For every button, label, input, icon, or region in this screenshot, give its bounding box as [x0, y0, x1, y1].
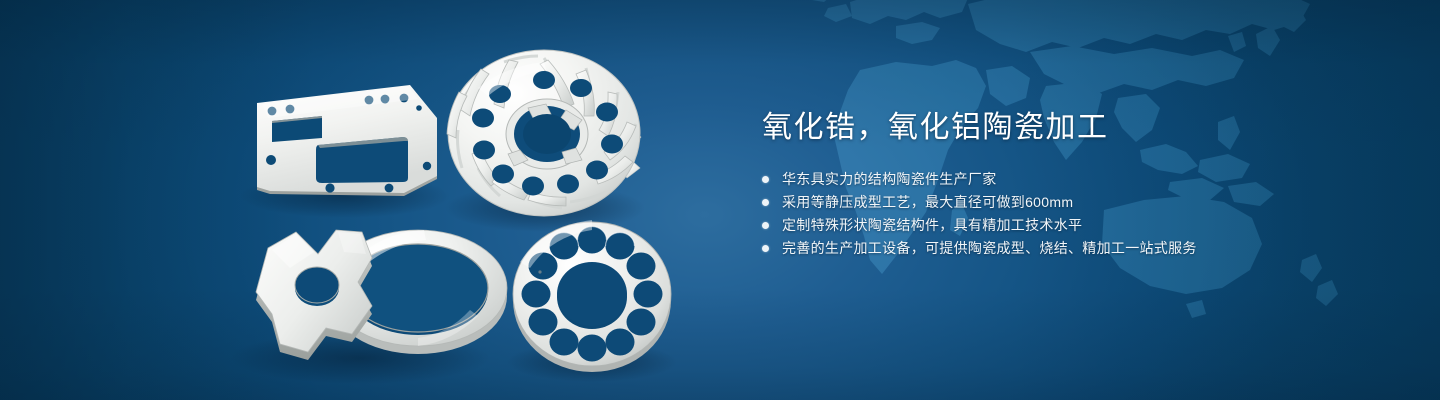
banner-headline: 氧化锆，氧化铝陶瓷加工	[762, 108, 1382, 148]
feature-list-item: 定制特殊形状陶瓷结构件，具有精加工技术水平	[762, 214, 1382, 237]
ceramic-products-collage	[0, 0, 720, 400]
bullet-dot-icon	[762, 222, 769, 229]
feature-text: 定制特殊形状陶瓷结构件，具有精加工技术水平	[782, 214, 1082, 237]
ceramic-impeller-disc	[447, 50, 641, 216]
ceramic-plate-with-cutouts	[257, 85, 437, 196]
feature-text: 完善的生产加工设备，可提供陶瓷成型、烧结、精加工一站式服务	[782, 237, 1197, 260]
feature-list: 华东具实力的结构陶瓷件生产厂家 采用等静压成型工艺，最大直径可做到600mm 定…	[762, 168, 1382, 260]
ceramic-perforated-disc	[513, 220, 671, 372]
promo-banner: 氧化锆，氧化铝陶瓷加工 华东具实力的结构陶瓷件生产厂家 采用等静压成型工艺，最大…	[0, 0, 1440, 400]
bullet-dot-icon	[762, 245, 769, 252]
banner-copy: 氧化锆，氧化铝陶瓷加工 华东具实力的结构陶瓷件生产厂家 采用等静压成型工艺，最大…	[762, 108, 1382, 260]
feature-text: 华东具实力的结构陶瓷件生产厂家	[782, 168, 997, 191]
bullet-dot-icon	[762, 176, 769, 183]
bullet-dot-icon	[762, 199, 769, 206]
feature-list-item: 华东具实力的结构陶瓷件生产厂家	[762, 168, 1382, 191]
feature-text: 采用等静压成型工艺，最大直径可做到600mm	[782, 191, 1073, 214]
feature-list-item: 完善的生产加工设备，可提供陶瓷成型、烧结、精加工一站式服务	[762, 237, 1382, 260]
feature-list-item: 采用等静压成型工艺，最大直径可做到600mm	[762, 191, 1382, 214]
